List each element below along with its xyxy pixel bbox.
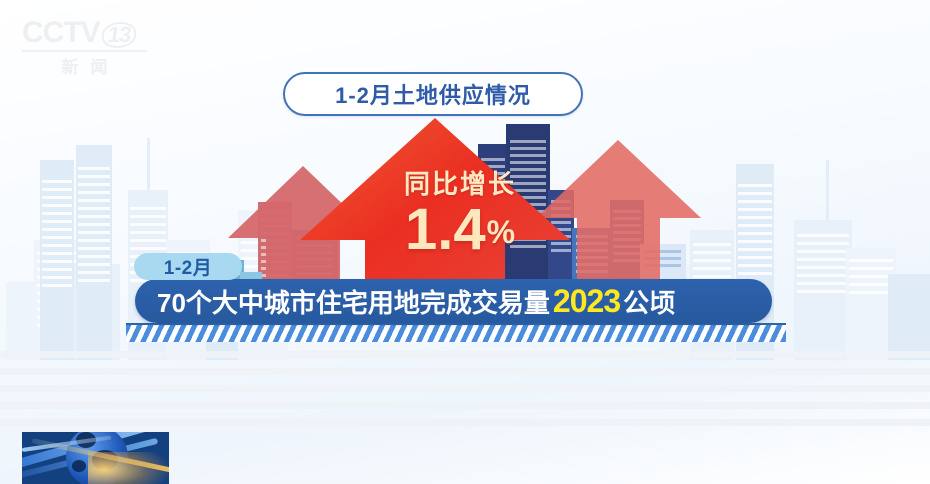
growth-number: 1.4 — [405, 197, 486, 262]
headline-text-before: 70个大中城市住宅用地完成交易量 — [157, 283, 550, 320]
period-badge: 1-2月 — [134, 253, 242, 280]
globe-news-thumbnail-icon — [22, 432, 169, 484]
growth-label: 同比增长 — [375, 170, 545, 199]
ground-band — [0, 351, 930, 358]
ground-band — [0, 385, 930, 392]
chart-title-text: 1-2月土地供应情况 — [335, 78, 531, 110]
growth-value: 1.4% — [375, 201, 545, 259]
growth-unit: % — [487, 214, 515, 250]
growth-callout: 同比增长 1.4% — [375, 170, 545, 259]
broadcast-graphic-screen: 1-2月土地供应情况 同比增长 1.4% 1-2月 70个大中城市住宅用地完成交… — [0, 0, 930, 484]
logo-channel-text: CCTV — [22, 16, 100, 49]
headline-bar: 70个大中城市住宅用地完成交易量 2023 公顷 — [135, 279, 772, 323]
headline-text-after: 公顷 — [623, 283, 675, 320]
ground-band — [0, 368, 930, 375]
cctv13-logo-icon: CCTV13 新闻 — [22, 18, 147, 76]
period-badge-label: 1-2月 — [164, 253, 212, 280]
ground-band — [0, 402, 930, 409]
headline-highlight-number: 2023 — [553, 283, 620, 320]
ground-band — [0, 419, 930, 426]
logo-mark: CCTV13 — [22, 18, 147, 48]
chart-title-pill: 1-2月土地供应情况 — [283, 72, 583, 116]
logo-subtitle: 新闻 — [22, 53, 147, 78]
logo-rule — [22, 50, 147, 52]
logo-channel-number: 13 — [100, 22, 138, 48]
pedestal-cap — [126, 323, 786, 325]
striped-base-icon — [126, 325, 786, 342]
